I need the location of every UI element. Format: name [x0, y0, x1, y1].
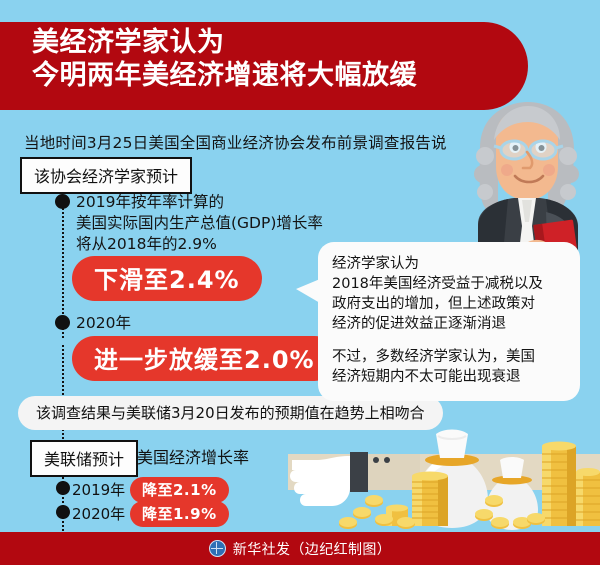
page-title: 美经济学家认为 今明两年美经济增速将大幅放缓 — [32, 26, 417, 92]
fed-year-2019: 2019年 — [72, 479, 125, 500]
fed-badge-2020: 降至1.9% — [130, 501, 229, 527]
fed-badge-2019: 降至2.1% — [130, 477, 229, 503]
bubble-paragraph-2: 不过，多数经济学家认为，美国 经济短期内不太可能出现衰退 — [332, 347, 566, 387]
forecast-badge-2020: 进一步放缓至2.0% — [72, 336, 337, 381]
money-illustration — [288, 424, 600, 534]
coin-stack-far-right — [576, 468, 600, 526]
coin-stack-right-tall — [542, 442, 576, 527]
bullet-dot-2019 — [55, 194, 70, 209]
forecast-body-2019: 2019年按年率计算的 美国实际国内生产总值(GDP)增长率 将从2018年的2… — [76, 192, 323, 255]
lead-paragraph: 当地时间3月25日美国全国商业经济协会发布前景调查报告说 — [24, 131, 447, 153]
economist-illustration — [452, 100, 600, 265]
timeline-dotted-line-mid — [62, 345, 64, 395]
forecast-body-2020: 2020年 — [76, 313, 131, 334]
xinhua-globe-icon — [209, 540, 226, 557]
footer-credit: 新华社发（边纪红制图） — [233, 539, 391, 559]
bullet-dot-2020 — [55, 315, 70, 330]
bullet-dot-fed-2020 — [56, 505, 70, 519]
speech-bubble-tail — [296, 279, 320, 303]
coin-stack-left — [412, 472, 448, 527]
infographic-root: 美经济学家认为 今明两年美经济增速将大幅放缓 — [0, 0, 600, 565]
footer-bar: 新华社发（边纪红制图） — [0, 532, 600, 565]
fed-year-2020: 2020年 — [72, 503, 125, 524]
comparison-statement: 该调查结果与美联储3月20日发布的预期值在趋势上相吻合 — [18, 396, 443, 430]
forecast-badge-2019: 下滑至2.4% — [72, 256, 262, 301]
speech-bubble: 经济学家认为 2018年美国经济受益于减税以及 政府支出的增加，但上述政策对 经… — [318, 242, 580, 401]
fed-forecast-tag: 美联储预计 — [30, 440, 138, 477]
association-forecast-tag: 该协会经济学家预计 — [20, 157, 192, 194]
fed-forecast-subtitle: 美国经济增长率 — [137, 444, 249, 468]
bubble-paragraph-1: 经济学家认为 2018年美国经济受益于减税以及 政府支出的增加，但上述政策对 经… — [332, 254, 566, 334]
bullet-dot-fed-2019 — [56, 481, 70, 495]
